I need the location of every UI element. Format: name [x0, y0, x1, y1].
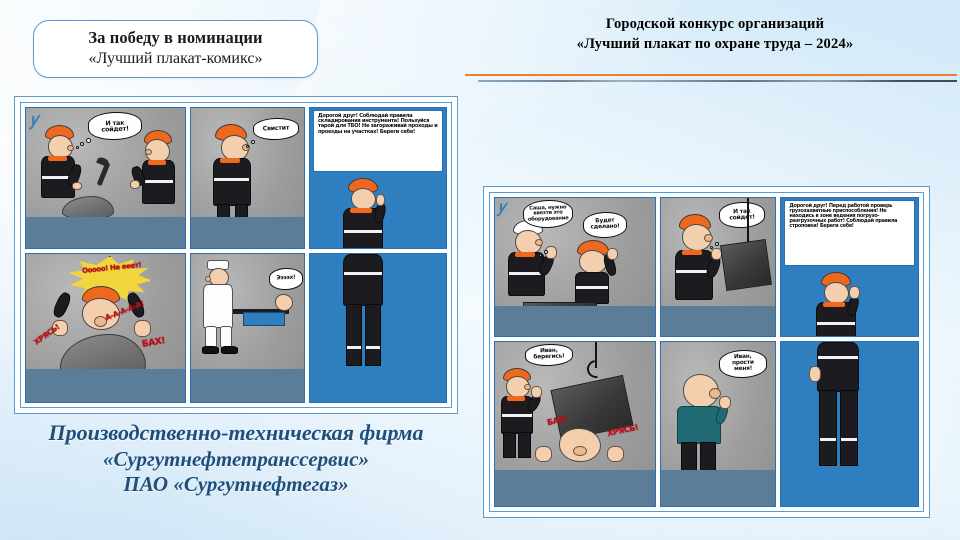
boot	[202, 346, 219, 354]
contest-title: Городской конкурс организаций «Лучший пл…	[480, 15, 950, 54]
nose	[205, 276, 211, 282]
patient-face	[275, 294, 293, 311]
company-line-3: ПАО «Сургутнефтегаз»	[6, 472, 466, 498]
face	[824, 282, 849, 304]
comic-panel-l3: Дорогой друг! Соблюдай правила складиров…	[309, 107, 447, 249]
body	[677, 406, 721, 444]
pointing-hand	[376, 194, 385, 206]
company-line-1: Производственно-техническая фирма	[6, 420, 466, 447]
medic-coat	[203, 284, 233, 328]
body	[343, 254, 383, 306]
comic-panel-r5: Иван, прости меня!	[660, 341, 776, 507]
safety-message: Дорогой друг! Перед работой проверь груз…	[784, 200, 915, 266]
leg	[840, 390, 858, 466]
nose	[145, 149, 152, 155]
body	[213, 158, 251, 206]
nose	[535, 239, 543, 246]
speech-bubble: Иван, прости меня!	[719, 350, 768, 380]
company-line-2: «Сургутнефтетранссервис»	[6, 447, 466, 473]
leg	[346, 304, 362, 366]
reflective-stripe	[502, 414, 532, 417]
leg	[503, 432, 516, 458]
thought-dots	[537, 250, 551, 260]
speech-bubble: И так сойдет!	[719, 201, 766, 229]
comic-poster-right: 𝑦 Саша, нужно ввезти это оборудование	[483, 186, 930, 518]
speech-bubble: Ээээх!	[269, 267, 304, 290]
thumbs-up-hand	[849, 286, 860, 299]
leg	[365, 304, 381, 366]
body	[817, 342, 859, 392]
contest-title-line-2: «Лучший плакат по охране труда – 2024»	[480, 35, 950, 55]
rubble	[60, 334, 146, 382]
face	[351, 188, 376, 210]
hand	[535, 446, 552, 462]
comic-poster-left: 𝑦 И так сойдет!	[14, 96, 458, 414]
crane-cable	[747, 198, 749, 242]
comic-panel-r4: Иван, берегись! БАХ! ХРЯСЬ!	[494, 341, 656, 507]
contest-title-line-1: Городской конкурс организаций	[480, 15, 950, 35]
reflective-stripe	[143, 180, 173, 183]
hand	[607, 446, 624, 462]
reflective-stripe	[344, 272, 382, 275]
artist-mark: 𝑦	[497, 199, 506, 218]
leg	[518, 432, 531, 458]
comic-panel-l2: Свистит	[190, 107, 305, 249]
arm	[51, 291, 73, 320]
boot	[221, 346, 238, 354]
reflective-stripe	[344, 230, 382, 233]
nose	[704, 234, 713, 242]
reflective-stripe	[820, 438, 836, 441]
collar	[148, 160, 166, 165]
speech-bubble: Иван, берегись!	[525, 344, 574, 368]
comic-panel-l1: 𝑦 И так сойдет!	[25, 107, 186, 249]
collar	[507, 396, 525, 401]
reflective-stripe	[366, 346, 380, 349]
reflective-stripe	[509, 272, 543, 275]
collar	[682, 250, 702, 255]
artist-mark: 𝑦	[29, 110, 40, 131]
rubble	[62, 196, 114, 220]
collar	[350, 208, 372, 213]
suspended-load	[720, 239, 772, 291]
hand	[809, 366, 821, 382]
stretcher	[243, 312, 285, 326]
leg	[681, 442, 697, 472]
leg	[220, 326, 232, 348]
speech-bubble: И так сойдет!	[88, 111, 143, 141]
reflective-stripe	[347, 346, 361, 349]
hand	[130, 180, 140, 189]
award-line-2: «Лучший плакат-комикс»	[89, 49, 263, 68]
nose	[67, 145, 74, 151]
comic-panel-l4: Ооооо! Не ееет! ХРЯСЬ! А-А-А-А-А! БАХ!	[25, 253, 186, 403]
leg	[217, 204, 230, 222]
header-divider-gray	[478, 80, 957, 82]
reflective-stripe	[576, 286, 608, 289]
nose	[524, 384, 531, 390]
collar	[823, 302, 845, 307]
hand-raised	[607, 248, 618, 260]
face-shouting	[559, 428, 601, 462]
comic-panel-l5: Ээээх!	[190, 253, 305, 403]
reflective-stripe	[818, 356, 858, 359]
comic-panel-r6	[780, 341, 919, 507]
safety-message: Дорогой друг! Соблюдай правила складиров…	[313, 110, 443, 172]
header-divider-orange	[465, 74, 957, 76]
leg	[819, 390, 837, 466]
speech-bubble: Саша, нужно ввезти это оборудование	[523, 199, 574, 229]
reflective-stripe	[841, 438, 857, 441]
reflective-stripe	[817, 322, 855, 325]
speech-bubble: Будет сделано!	[583, 211, 628, 239]
collar	[48, 156, 67, 161]
comic-panel-r1: 𝑦 Саша, нужно ввезти это оборудование	[494, 197, 656, 337]
reflective-stripe	[214, 178, 249, 181]
award-line-1: За победу в номинации	[88, 29, 262, 48]
comic-panel-r2: И так сойдет!	[660, 197, 776, 337]
hand-raised	[719, 396, 731, 409]
comic-panel-l6	[309, 253, 447, 403]
collar	[515, 252, 535, 257]
leg	[235, 204, 248, 222]
thought-dots	[76, 138, 94, 150]
hand	[134, 320, 151, 337]
collar	[220, 158, 240, 163]
comic-panel-r3: Дорогой друг! Перед работой проверь груз…	[780, 197, 919, 337]
wrench-head	[96, 156, 110, 167]
thought-dots	[243, 140, 257, 152]
leg	[700, 442, 716, 472]
equipment-crate	[523, 302, 597, 318]
sfx-text: БАХ!	[141, 336, 166, 350]
hand	[72, 182, 82, 190]
leg	[205, 326, 217, 348]
award-nomination-badge: За победу в номинации «Лучший плакат-ком…	[33, 20, 318, 78]
face	[579, 250, 607, 274]
hand-raised	[531, 386, 542, 398]
company-caption: Производственно-техническая фирма «Сургу…	[6, 420, 466, 498]
speech-bubble: Свистит	[253, 117, 300, 141]
